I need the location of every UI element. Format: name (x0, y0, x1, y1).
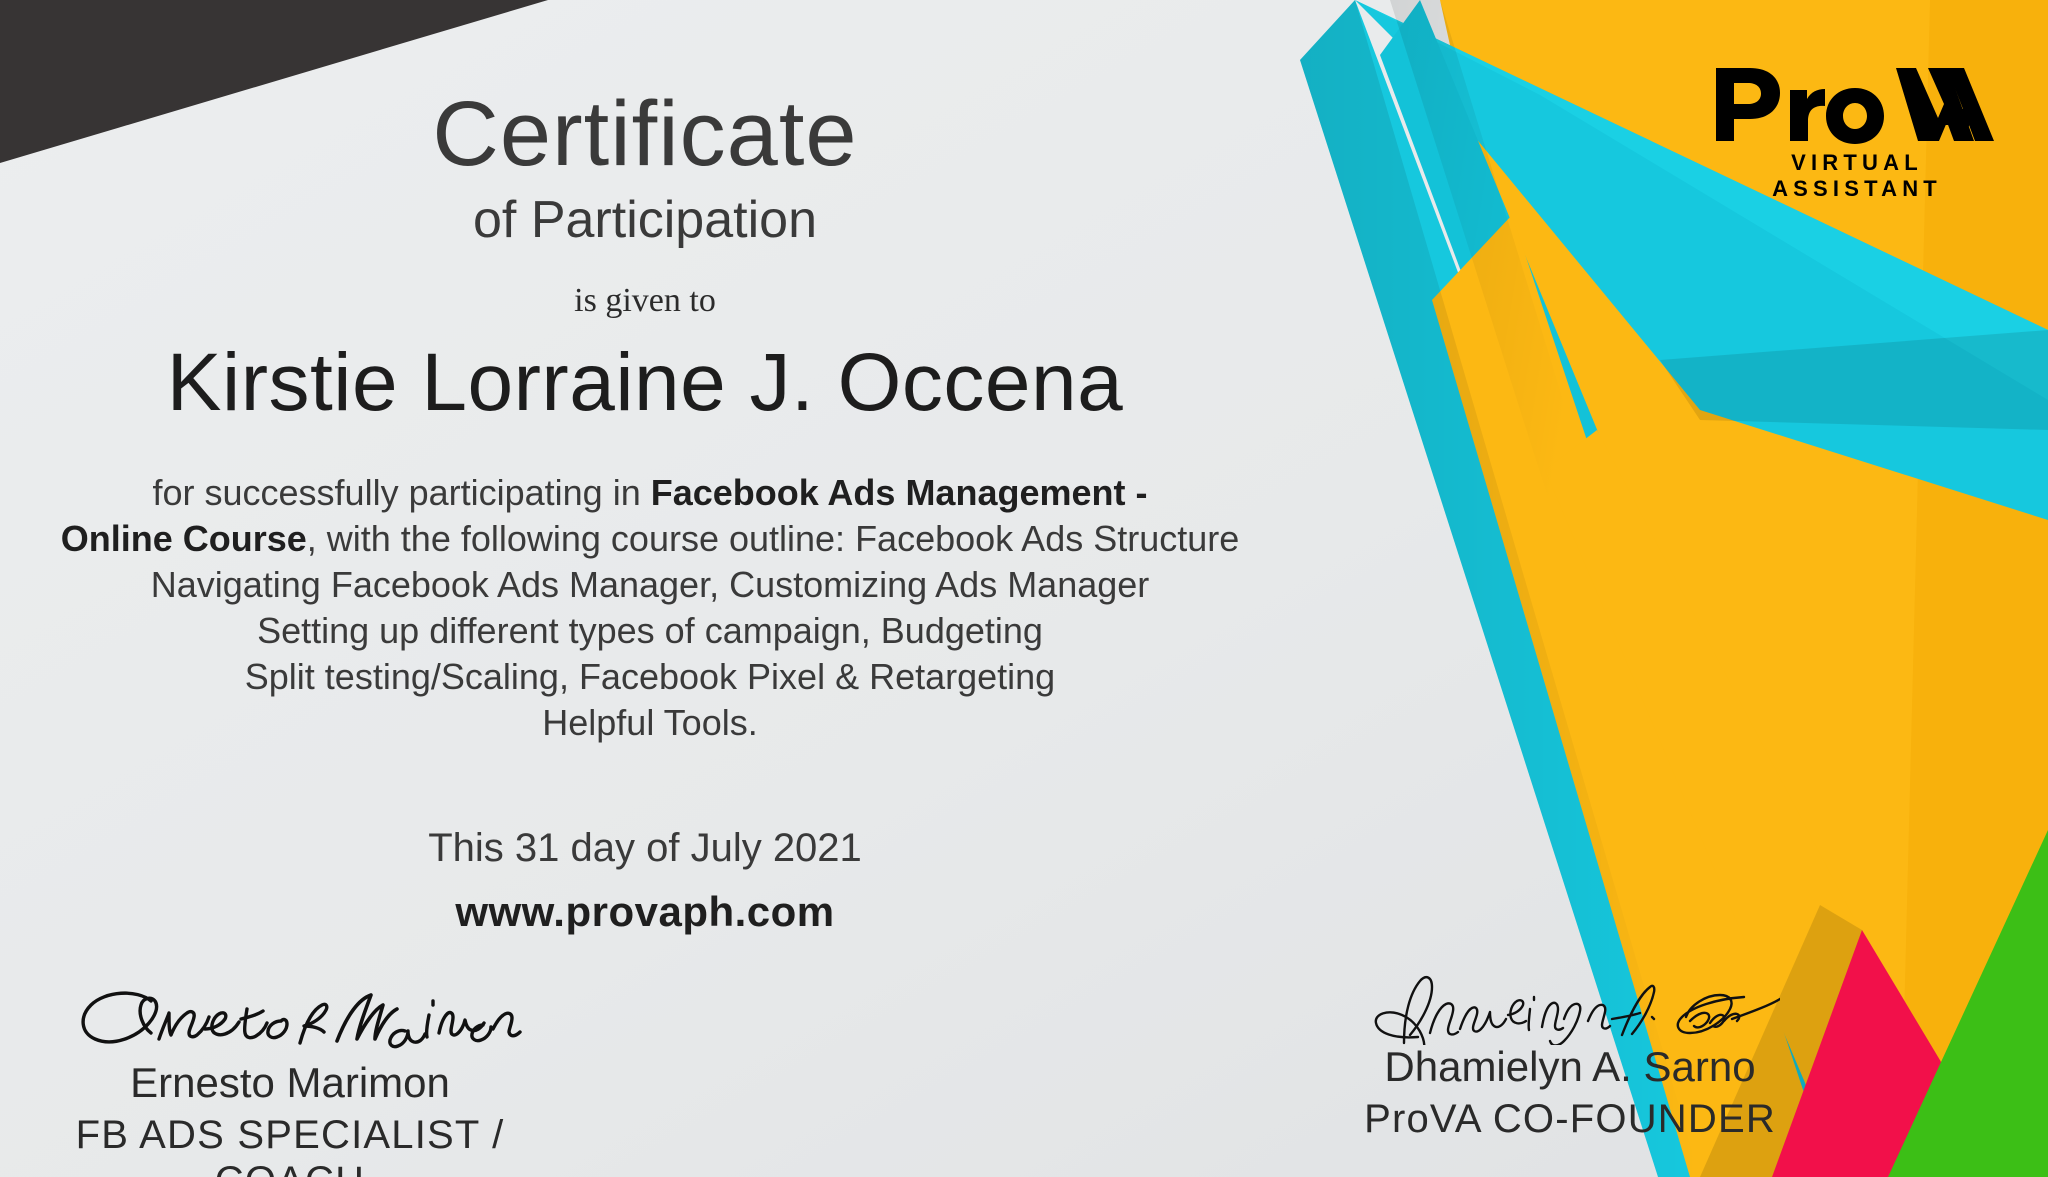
signature-mark-dhamielyn (1270, 975, 1870, 1041)
course-outline: Navigating Facebook Ads Manager, Customi… (10, 562, 1290, 746)
prova-wordmark-icon (1710, 62, 2000, 148)
signature-mark-ernesto (0, 985, 580, 1057)
prova-logo: VIRTUAL ASSISTANT (1710, 62, 2000, 202)
citation-mid: , with the following course outline: Fac… (307, 518, 1240, 559)
outline-item: Setting up different types of campaign, … (10, 608, 1290, 654)
website-url[interactable]: www.provaph.com (0, 888, 1290, 936)
prova-logo-tagline: VIRTUAL ASSISTANT (1714, 150, 2000, 202)
signatory-name: Dhamielyn A. Sarno (1270, 1043, 1870, 1090)
issue-date: This 31 day of July 2021 (0, 826, 1290, 871)
certificate-heading: Certificate of Participation (0, 88, 1290, 246)
page-subtitle: of Participation (0, 194, 1290, 246)
outline-item: Navigating Facebook Ads Manager, Customi… (10, 562, 1290, 608)
signature-block-left: Ernesto Marimon FB ADS SPECIALIST / COAC… (0, 985, 580, 1177)
page-title: Certificate (0, 88, 1290, 180)
outline-item: Split testing/Scaling, Facebook Pixel & … (10, 654, 1290, 700)
outline-item: Helpful Tools. (10, 700, 1290, 746)
signatory-role: ProVA CO-FOUNDER (1270, 1096, 1870, 1142)
citation-lead: for successfully participating in (153, 472, 651, 513)
course-name-line2: Online Course (61, 518, 307, 559)
recipient-name: Kirstie Lorraine J. Occena (0, 340, 1290, 426)
given-to-label: is given to (0, 282, 1290, 320)
course-name-line1: Facebook Ads Management - (651, 472, 1148, 513)
citation-paragraph: for successfully participating in Facebo… (10, 470, 1290, 746)
signatory-role: FB ADS SPECIALIST / COACH (0, 1112, 580, 1177)
certificate-canvas: Certificate of Participation is given to… (0, 0, 2048, 1177)
signatory-name: Ernesto Marimon (0, 1059, 580, 1106)
signature-block-right: Dhamielyn A. Sarno ProVA CO-FOUNDER (1270, 975, 1870, 1142)
